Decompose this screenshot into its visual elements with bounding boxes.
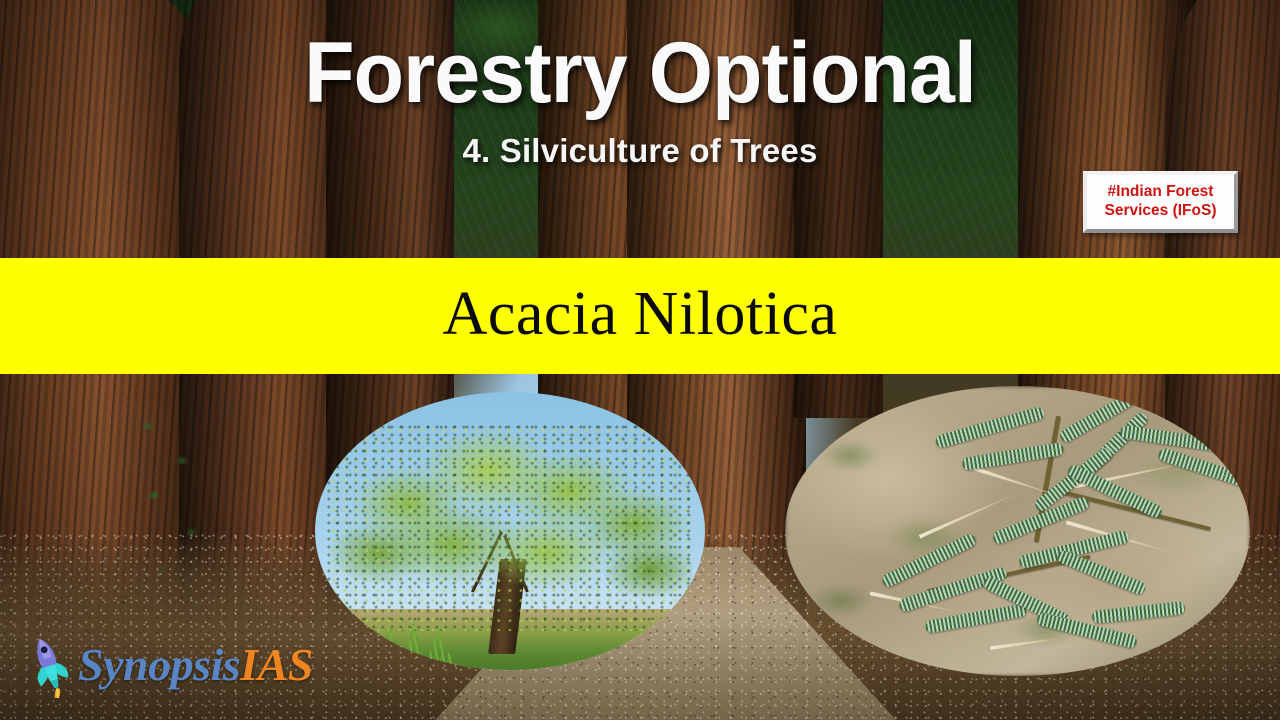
page-title: Forestry Optional [26, 28, 1255, 118]
presentation-slide: Forestry Optional 4. Silviculture of Tre… [0, 0, 1280, 720]
logo-text-secondary: IAS [240, 639, 313, 690]
slide-header: Forestry Optional 4. Silviculture of Tre… [0, 0, 1280, 170]
acacia-nilotica-foliage-thorns-photo [785, 386, 1250, 676]
rocket-icon [18, 632, 74, 698]
logo-text: SynopsisIAS [78, 642, 313, 688]
species-title-band: Acacia Nilotica [0, 258, 1280, 374]
acacia-nilotica-whole-tree-photo [315, 392, 705, 670]
species-name: Acacia Nilotica [443, 283, 838, 349]
status-badge: #Indian Forest Services (IFoS) [1083, 171, 1238, 233]
brand-logo[interactable]: SynopsisIAS [18, 632, 313, 698]
tree-photo-leaf-texture [327, 425, 694, 631]
page-subtitle: 4. Silviculture of Trees [0, 132, 1280, 170]
badge-line-1: #Indian Forest [1108, 183, 1214, 202]
logo-text-primary: Synopsis [78, 639, 240, 690]
badge-line-2: Services (IFoS) [1105, 202, 1217, 221]
